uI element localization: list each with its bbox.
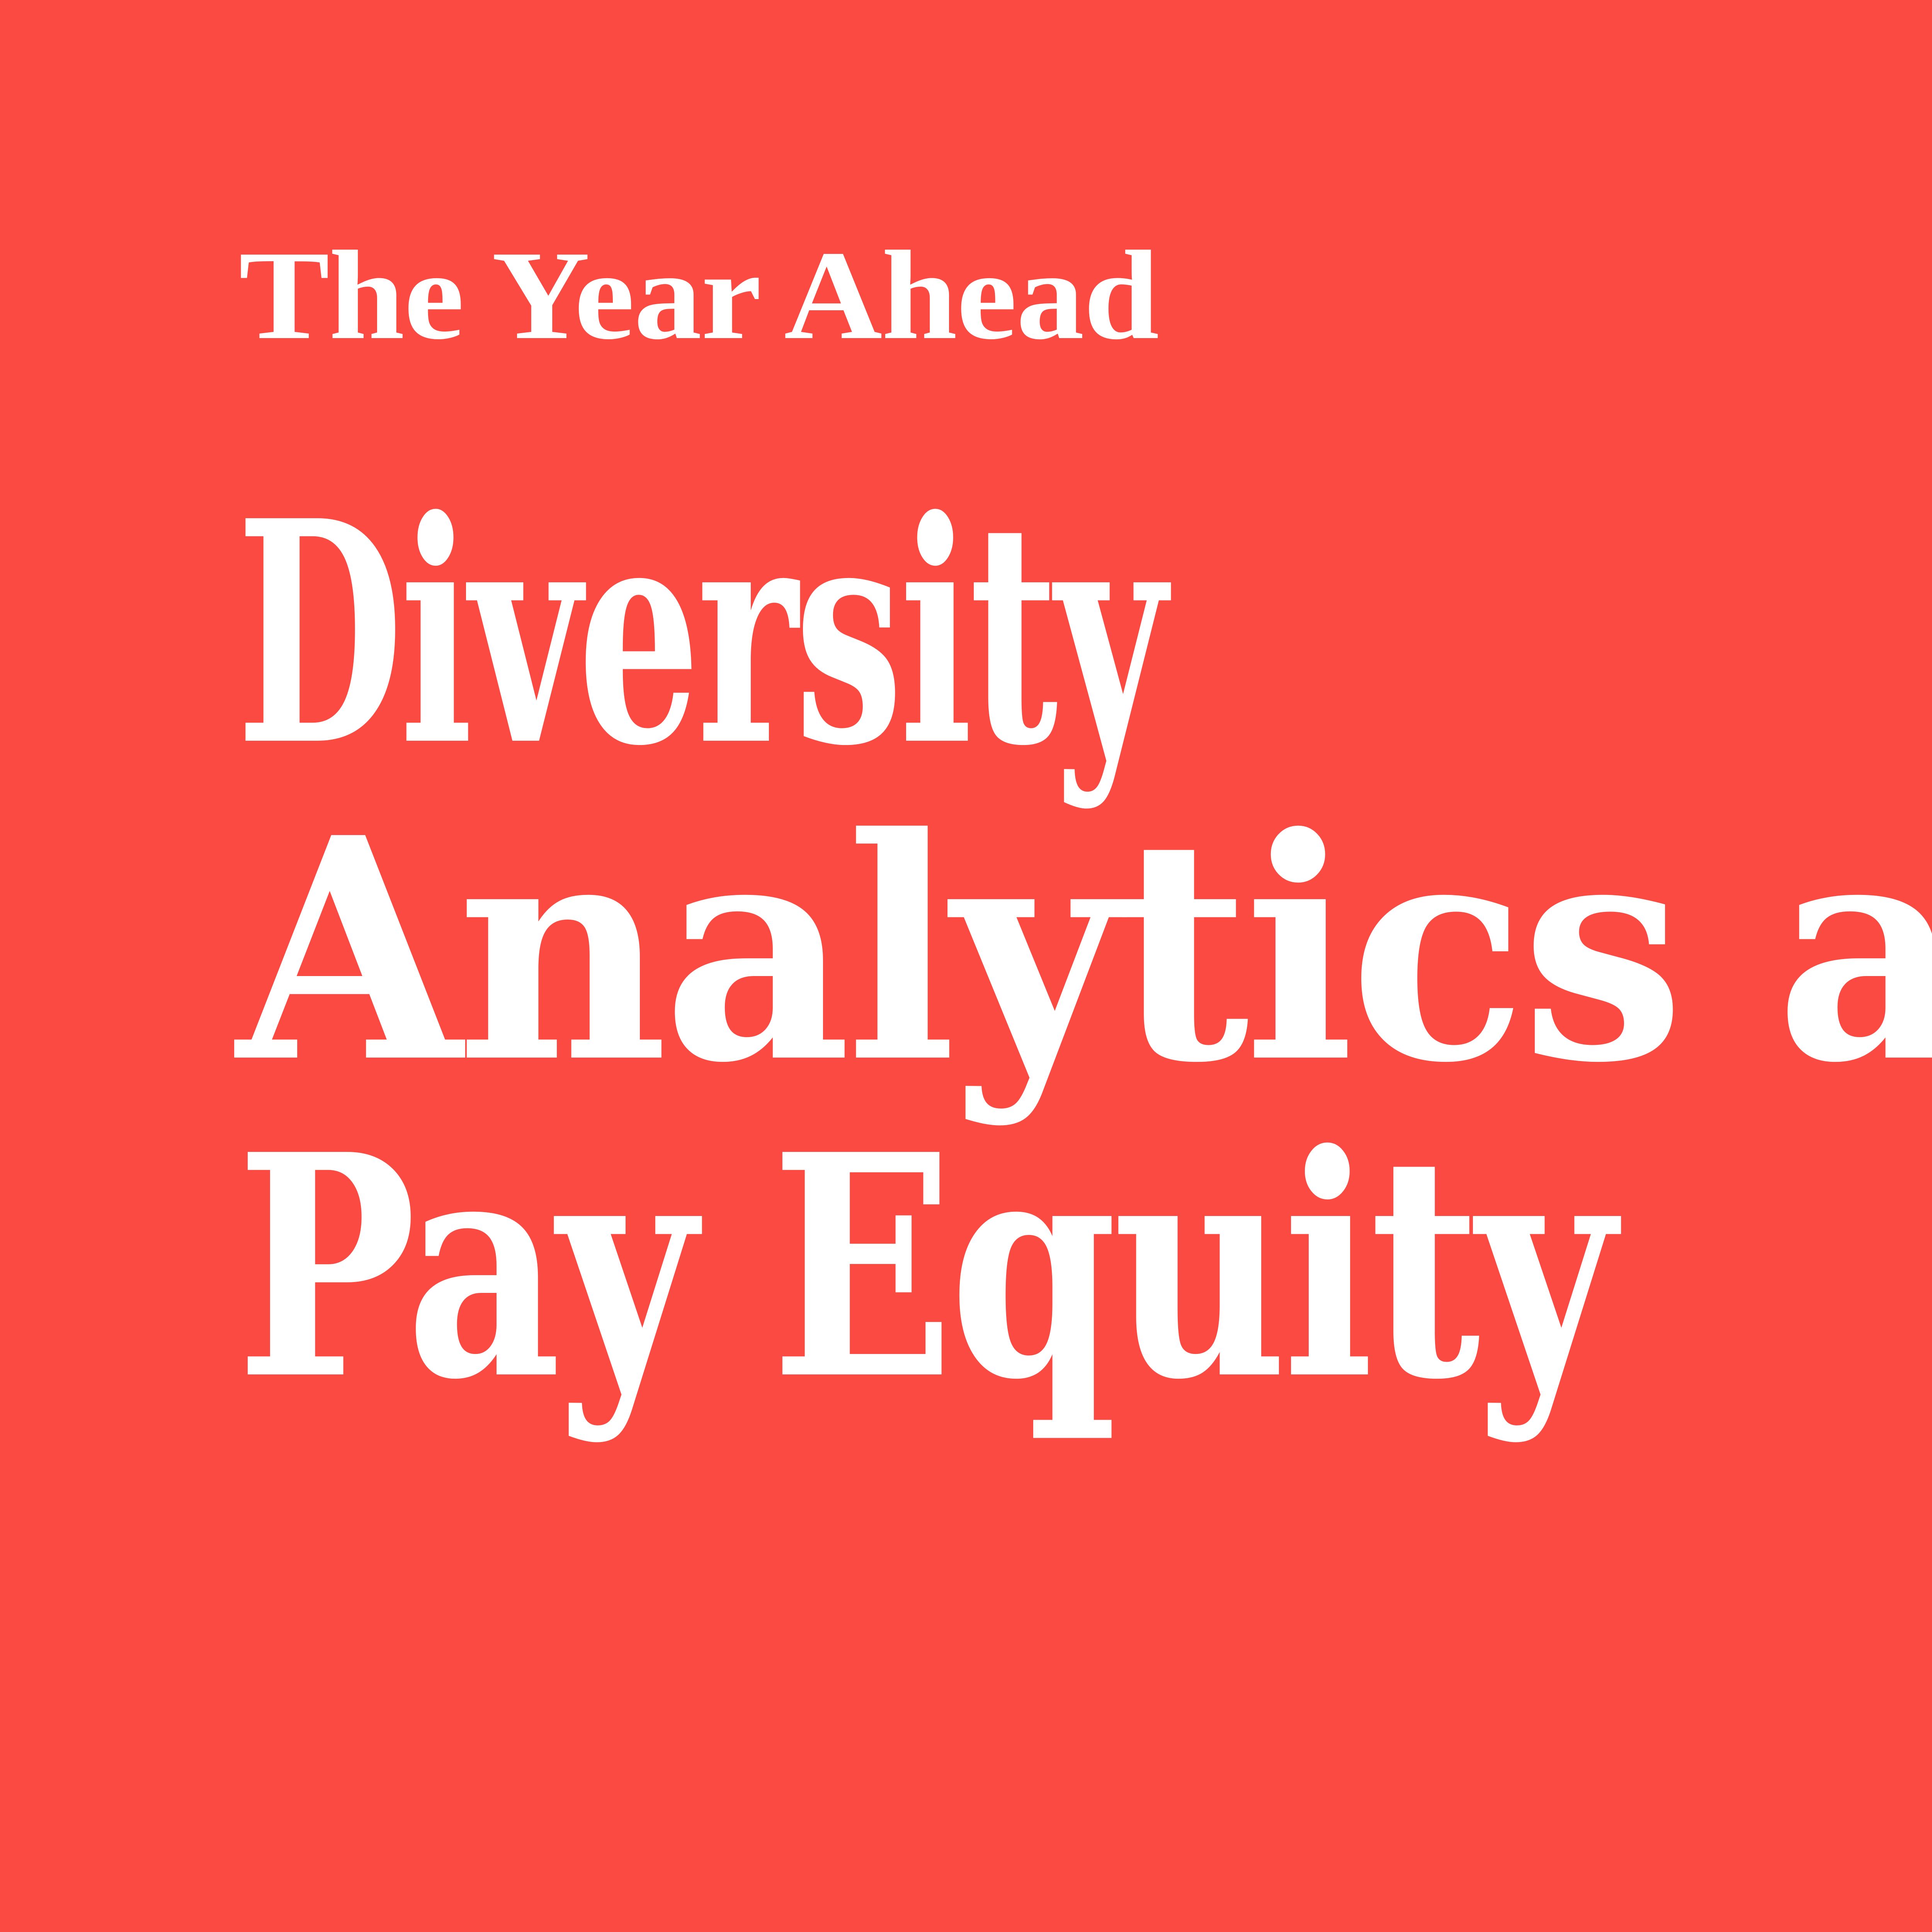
page-title: Diversity Analytics and Pay Equity <box>236 475 1932 1426</box>
series-eyebrow: The Year Ahead <box>239 232 1158 359</box>
headline-line-1: Diversity <box>236 475 1454 792</box>
headline-line-3: Pay Equity <box>236 1109 1753 1426</box>
headline-line-2: Analytics and <box>236 792 1932 1109</box>
podcast-cover-art: The Year Ahead Diversity Analytics and P… <box>0 0 1932 1932</box>
